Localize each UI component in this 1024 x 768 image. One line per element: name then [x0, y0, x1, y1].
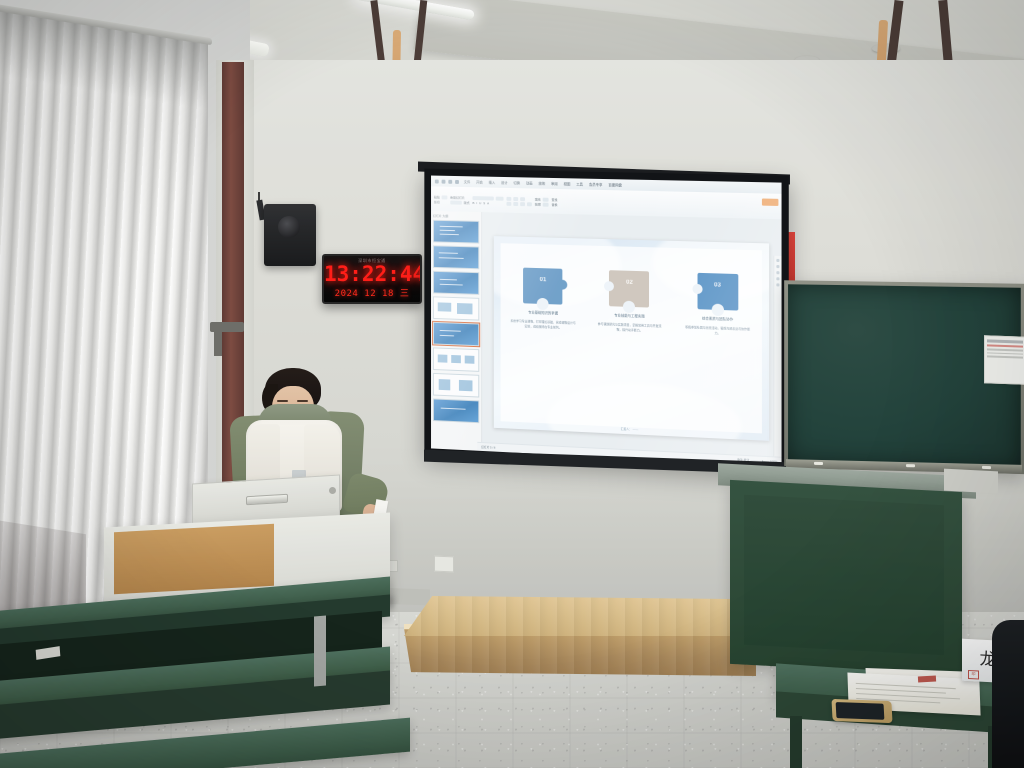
font-color-icon[interactable]: A: [487, 201, 489, 205]
image-icon[interactable]: [776, 271, 779, 274]
font-size-select[interactable]: [496, 197, 504, 201]
puzzle-title-02: 专业技能与工程实践: [614, 314, 645, 320]
clock-day: 18: [382, 289, 394, 299]
puzzle-block-2[interactable]: 02 专业技能与工程实践 参与课题研究与实践项目，掌握常用工具与开发流程，提升动…: [596, 270, 664, 334]
stage-platform-top: [404, 596, 756, 636]
puzzle-block-1[interactable]: 01 专业基础知识的掌握 系统学习专业课程，打牢理论基础，完成课程设计与实验，成…: [510, 267, 577, 331]
bullets-icon[interactable]: [506, 197, 511, 201]
slide-thumbnail-5-current[interactable]: [433, 322, 479, 346]
right-podium-panel: [744, 495, 944, 655]
foreground-person-silhouette: [992, 620, 1024, 768]
tab-home[interactable]: 开始: [475, 179, 484, 184]
shape-library-icon[interactable]: [776, 283, 779, 286]
undo-icon[interactable]: [442, 179, 446, 183]
puzzle-number-02: 02: [609, 279, 649, 286]
tab-review[interactable]: 审阅: [550, 181, 559, 186]
right-podium-ledge: [944, 469, 998, 494]
font-family-select[interactable]: [472, 196, 493, 200]
layout-label[interactable]: 版式: [464, 201, 470, 205]
puzzle-title-03: 综合素质与团队协作: [702, 317, 733, 323]
notice-line-2: [987, 352, 1023, 355]
slide-thumbnail-3[interactable]: [433, 271, 479, 295]
slide-editing-area[interactable]: 01 专业基础知识的掌握 系统学习专业课程，打牢理论基础，完成课程设计与实验，成…: [482, 212, 781, 466]
puzzle-piece-03[interactable]: 03: [697, 273, 738, 311]
slide-thumbnail-2[interactable]: [433, 245, 479, 269]
slide-thumbnail-8[interactable]: [433, 398, 479, 423]
numbering-icon[interactable]: [513, 197, 518, 201]
ribbon-group-editing[interactable]: 查找 替换: [552, 198, 558, 207]
clock-date-display: 2024 12 18 三: [324, 286, 420, 299]
redo-icon[interactable]: [448, 179, 452, 183]
slide-thumbnail-6[interactable]: [433, 347, 479, 371]
paste-label[interactable]: 粘贴: [434, 195, 440, 199]
underline-icon[interactable]: U: [479, 201, 481, 205]
print-icon[interactable]: [455, 179, 459, 183]
wall-speaker: [264, 204, 316, 266]
clock-year: 2024: [335, 289, 359, 299]
projector-screen[interactable]: 文件 开始 插入 设计 切换 动画 放映 审阅 视图 工具 会员专享 百度网盘 …: [424, 169, 788, 474]
share-button[interactable]: [762, 198, 779, 205]
tab-insert[interactable]: 插入: [488, 180, 497, 185]
current-slide[interactable]: 01 专业基础知识的掌握 系统学习专业课程，打牢理论基础，完成课程设计与实验，成…: [494, 236, 769, 440]
classroom-photo: 深圳市恒宝通 13:22:44 2024 12 18 三 学校教室管理规定 文件…: [0, 0, 1024, 768]
tab-design[interactable]: 设计: [500, 180, 509, 185]
column-bracket-vertical: [214, 330, 222, 356]
tab-transitions[interactable]: 切换: [512, 180, 521, 185]
notice-line-3: [987, 356, 1023, 359]
ribbon-group-newslide[interactable]: 新建幻灯片 版式: [450, 196, 469, 205]
shape-outline-icon[interactable]: [543, 203, 549, 207]
ribbon-group-drawing[interactable]: 填充 轮廓: [535, 197, 549, 206]
puzzle-infographic: 01 专业基础知识的掌握 系统学习专业课程，打牢理论基础，完成课程设计与实验，成…: [510, 267, 752, 337]
replace-label[interactable]: 替换: [552, 203, 558, 207]
slide-thumbnail-7[interactable]: [433, 373, 479, 398]
shape-fill-label[interactable]: 填充: [535, 197, 541, 201]
notice-line-1: [987, 348, 1023, 351]
tab-tools[interactable]: 工具: [575, 181, 584, 186]
text-box-icon[interactable]: [776, 277, 779, 280]
projected-desktop[interactable]: 文件 开始 插入 设计 切换 动画 放映 审阅 视图 工具 会员专享 百度网盘 …: [431, 176, 782, 466]
notice-warning-line: [987, 344, 1023, 347]
indent-icon[interactable]: [520, 197, 525, 201]
align-right-icon[interactable]: [520, 202, 525, 206]
ribbon-group-paragraph[interactable]: [506, 197, 531, 206]
wps-workspace[interactable]: 幻灯片 大纲: [431, 211, 782, 466]
puzzle-title-01: 专业基础知识的掌握: [528, 311, 558, 317]
align-left-icon[interactable]: [506, 202, 511, 206]
design-ideas-icon[interactable]: [776, 259, 779, 262]
find-label[interactable]: 查找: [552, 198, 558, 202]
clock-time-display: 13:22:44: [324, 262, 420, 286]
tab-file[interactable]: 文件: [463, 179, 471, 184]
speaker-cone-icon: [278, 216, 300, 238]
tab-animations[interactable]: 动画: [525, 180, 534, 185]
save-icon[interactable]: [435, 179, 439, 183]
paper-red-marking: [918, 676, 936, 683]
smartphone[interactable]: [831, 699, 892, 723]
tab-member[interactable]: 会员专享: [588, 182, 603, 187]
align-center-icon[interactable]: [513, 202, 518, 206]
wall-power-socket[interactable]: [434, 556, 454, 573]
clock-month: 12: [364, 289, 376, 299]
tab-slideshow[interactable]: 放映: [537, 181, 546, 186]
led-wall-clock: 深圳市恒宝通 13:22:44 2024 12 18 三: [322, 254, 422, 304]
tab-view[interactable]: 视图: [563, 181, 572, 186]
strikethrough-icon[interactable]: S: [483, 201, 485, 205]
newslide-label[interactable]: 新建幻灯片: [450, 196, 464, 200]
paste-icon[interactable]: [442, 195, 448, 199]
ribbon-group-font[interactable]: B I U S A: [472, 196, 503, 206]
name-placard-seal: 印: [968, 670, 979, 680]
cut-label[interactable]: 剪切: [434, 200, 440, 204]
puzzle-block-3[interactable]: 03 综合素质与团队协作 积极参加社团与志愿活动，锻炼沟通表达与协作能力。: [683, 273, 752, 338]
tab-cloud[interactable]: 百度网盘: [607, 182, 623, 187]
desk-side-rail: [314, 615, 326, 686]
ribbon-group-paste[interactable]: 粘贴 剪切: [434, 195, 447, 204]
chart-icon[interactable]: [776, 265, 779, 268]
puzzle-piece-02[interactable]: 02: [609, 270, 649, 307]
podium-wood-panel: [114, 524, 274, 594]
podium-lock-knob[interactable]: [329, 487, 336, 494]
slide-thumbnail-4[interactable]: [433, 296, 479, 320]
shape-outline-label[interactable]: 轮廓: [535, 202, 541, 206]
puzzle-number-03: 03: [697, 282, 738, 289]
phone-screen[interactable]: [836, 702, 885, 720]
notice-title-bar: [987, 339, 1023, 343]
front-desk-leg-left: [790, 716, 802, 768]
slide-counter: 幻灯片 5 / 8: [481, 445, 495, 450]
shape-fill-icon[interactable]: [543, 198, 549, 202]
thumbnail-panel-header: 幻灯片 大纲: [433, 214, 479, 219]
slide-thumbnail-1[interactable]: [433, 220, 479, 244]
slide-thumbnail-panel[interactable]: 幻灯片 大纲: [431, 211, 482, 451]
bold-icon[interactable]: B: [472, 201, 474, 205]
layout-icon[interactable]: [450, 201, 462, 205]
clock-weekday: 三: [400, 289, 410, 299]
quick-access-toolbar[interactable]: [435, 179, 459, 183]
wall-notice: [984, 335, 1024, 384]
line-spacing-icon[interactable]: [527, 202, 532, 206]
right-tool-rail[interactable]: [773, 256, 781, 458]
italic-icon[interactable]: I: [476, 201, 477, 205]
puzzle-piece-01[interactable]: 01: [523, 268, 562, 305]
